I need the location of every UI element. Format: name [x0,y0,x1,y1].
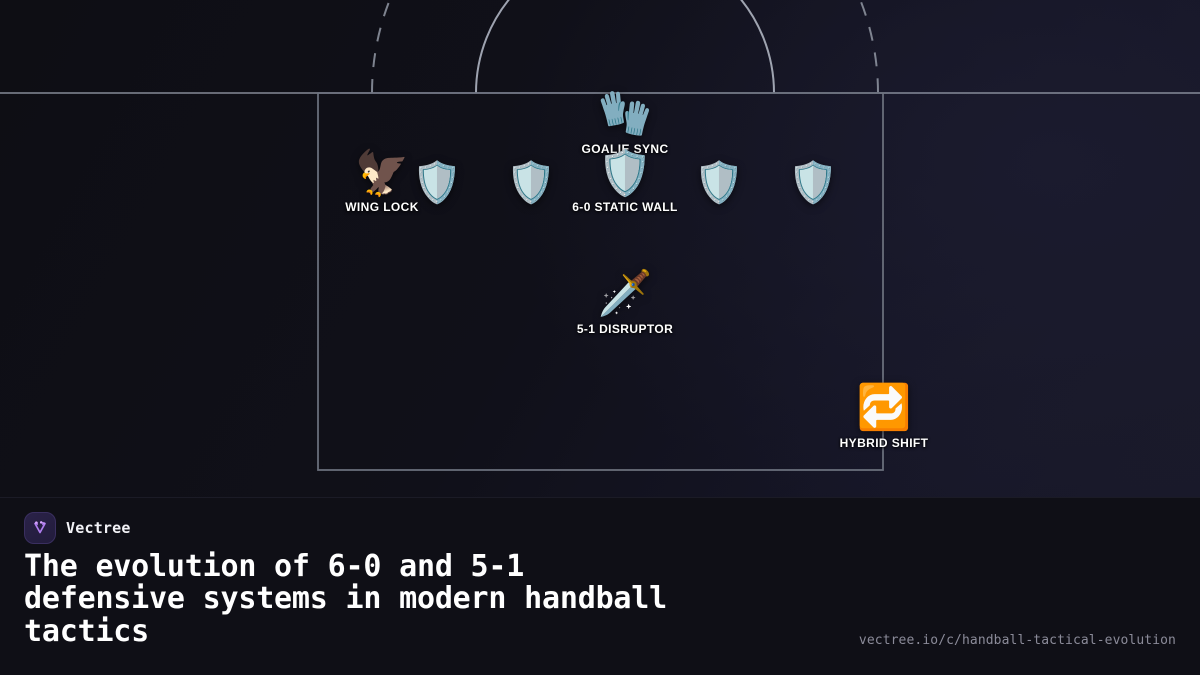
shield-icon: 🛡️ [694,163,744,203]
shield-icon: 🛡️ [598,152,653,196]
marker-label-static-wall: 6-0 STATIC WALL [572,200,678,214]
marker-wing-lock[interactable]: 🦅 WING LOCK [345,152,419,214]
marker-hybrid-shift[interactable]: 🔁 HYBRID SHIFT [840,386,929,450]
vectree-logo-icon [24,512,56,544]
six-meter-solid-arc [476,0,774,93]
infographic-canvas: 🛡️ 🛡️ 🛡️ 🛡️ 🦅 WING LOCK 🧤 GOALIE SYNC 🛡️… [0,0,1200,675]
page-title: The evolution of 6-0 and 5-1 defensive s… [24,551,824,648]
shield-icon: 🛡️ [788,163,838,203]
marker-goalie-sync[interactable]: 🧤 GOALIE SYNC [581,92,668,156]
marker-disruptor[interactable]: 🗡️ 5-1 DISRUPTOR [577,272,673,336]
marker-label-wing-lock: WING LOCK [345,200,419,214]
nine-meter-dashed-arc [372,0,878,93]
brand-name: Vectree [66,519,131,537]
gloves-icon: 🧤 [598,92,653,136]
brand-row[interactable]: Vectree [24,512,131,544]
eagle-icon: 🦅 [355,152,410,196]
dagger-icon: 🗡️ [598,272,653,316]
handball-court-diagram [0,0,1200,497]
marker-label-disruptor: 5-1 DISRUPTOR [577,322,673,336]
shield-icon: 🛡️ [412,163,462,203]
source-url: vectree.io/c/handball-tactical-evolution [859,633,1176,648]
marker-label-hybrid-shift: HYBRID SHIFT [840,436,929,450]
shield-icon: 🛡️ [506,163,556,203]
marker-static-wall[interactable]: 🛡️ 6-0 STATIC WALL [572,152,678,214]
footer-bar: Vectree The evolution of 6-0 and 5-1 def… [0,497,1200,675]
repeat-arrows-icon: 🔁 [857,386,912,430]
